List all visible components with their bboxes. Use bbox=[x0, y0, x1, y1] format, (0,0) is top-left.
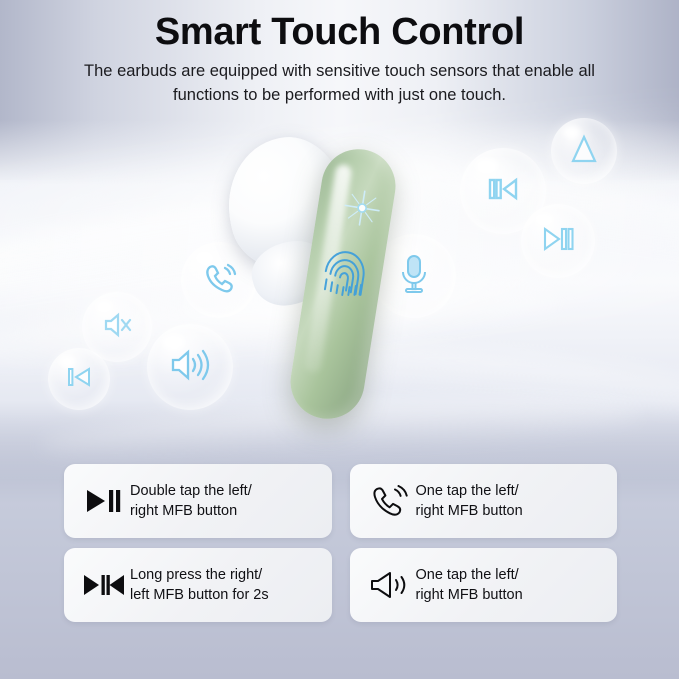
bubble-play-pause-right bbox=[521, 204, 595, 278]
previous-track-icon bbox=[483, 169, 523, 214]
card-label: One tap the left/ right MFB button bbox=[416, 481, 523, 521]
card-answer-call[interactable]: One tap the left/ right MFB button bbox=[350, 464, 618, 538]
card-label: Long press the right/ left MFB button fo… bbox=[130, 565, 269, 605]
phone-ring-icon bbox=[201, 260, 237, 301]
sparkle-icon bbox=[339, 185, 385, 231]
volume-mute-icon bbox=[101, 309, 133, 346]
card-volume[interactable]: One tap the left/ right MFB button bbox=[350, 548, 618, 622]
play-triangle-icon bbox=[569, 133, 599, 170]
next-previous-track-icon bbox=[78, 572, 130, 598]
bubble-triangle-right bbox=[551, 118, 617, 184]
card-track-skip[interactable]: Long press the right/ left MFB button fo… bbox=[64, 548, 332, 622]
microphone-icon bbox=[395, 252, 433, 301]
card-play-pause[interactable]: Double tap the left/ right MFB button bbox=[64, 464, 332, 538]
card-label: Double tap the left/ right MFB button bbox=[130, 481, 252, 521]
play-pause-icon bbox=[78, 488, 130, 514]
volume-up-icon bbox=[364, 570, 416, 600]
previous-track-icon bbox=[65, 363, 93, 396]
bubble-previous-track-left bbox=[48, 348, 110, 410]
feature-cards-grid: Double tap the left/ right MFB button On… bbox=[64, 464, 617, 622]
card-label: One tap the left/ right MFB button bbox=[416, 565, 523, 605]
header-block: Smart Touch Control The earbuds are equi… bbox=[0, 10, 679, 108]
page-subtitle: The earbuds are equipped with sensitive … bbox=[70, 60, 610, 108]
phone-ring-icon bbox=[364, 485, 416, 517]
volume-up-icon bbox=[169, 345, 211, 390]
page-title: Smart Touch Control bbox=[0, 10, 679, 55]
product-illustration bbox=[0, 118, 679, 448]
product-feature-graphic: Smart Touch Control The earbuds are equi… bbox=[0, 0, 679, 679]
fingerprint-icon bbox=[318, 241, 372, 302]
play-pause-icon bbox=[540, 221, 576, 262]
bubble-volume-up bbox=[147, 324, 233, 410]
